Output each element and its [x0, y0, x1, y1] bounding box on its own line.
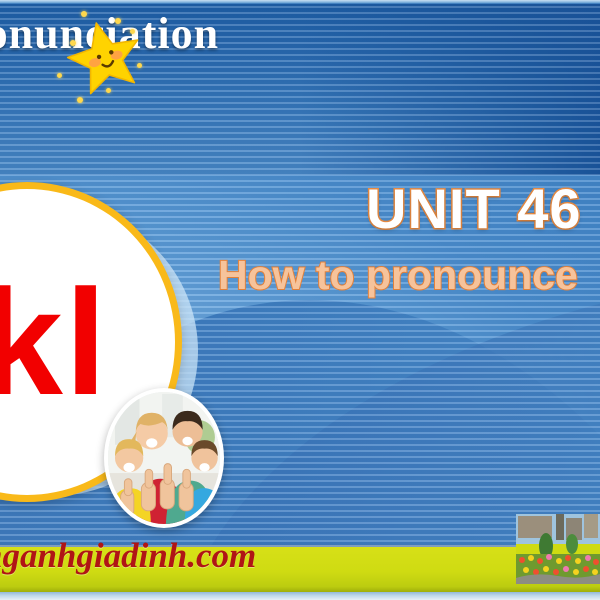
sparkle-icon: [115, 18, 121, 24]
sparkle-icon: [70, 40, 76, 46]
bottom-banner: tienganhgiadinh.com: [0, 545, 600, 592]
background-top-right-shade: [300, 0, 600, 175]
sparkle-icon: [106, 88, 111, 93]
sparkle-icon: [130, 29, 135, 34]
flower-garden-photo: [516, 514, 600, 584]
sparkle-icon: [57, 73, 62, 78]
unit-title: UNIT 46: [366, 176, 582, 241]
top-edge-highlight: [0, 0, 600, 4]
sparkle-icon: [137, 63, 142, 68]
bottom-edge-highlight: [0, 592, 600, 600]
family-thumbs-up-photo: [104, 388, 224, 528]
slide-canvas: Pronunciation kl: [0, 0, 600, 600]
smiling-star-icon: [62, 14, 148, 98]
sparkle-icon: [77, 97, 83, 103]
sparkle-icon: [81, 11, 87, 17]
unit-subtitle: How to pronounce: [218, 252, 578, 299]
website-url-text: tienganhgiadinh.com: [0, 536, 256, 576]
